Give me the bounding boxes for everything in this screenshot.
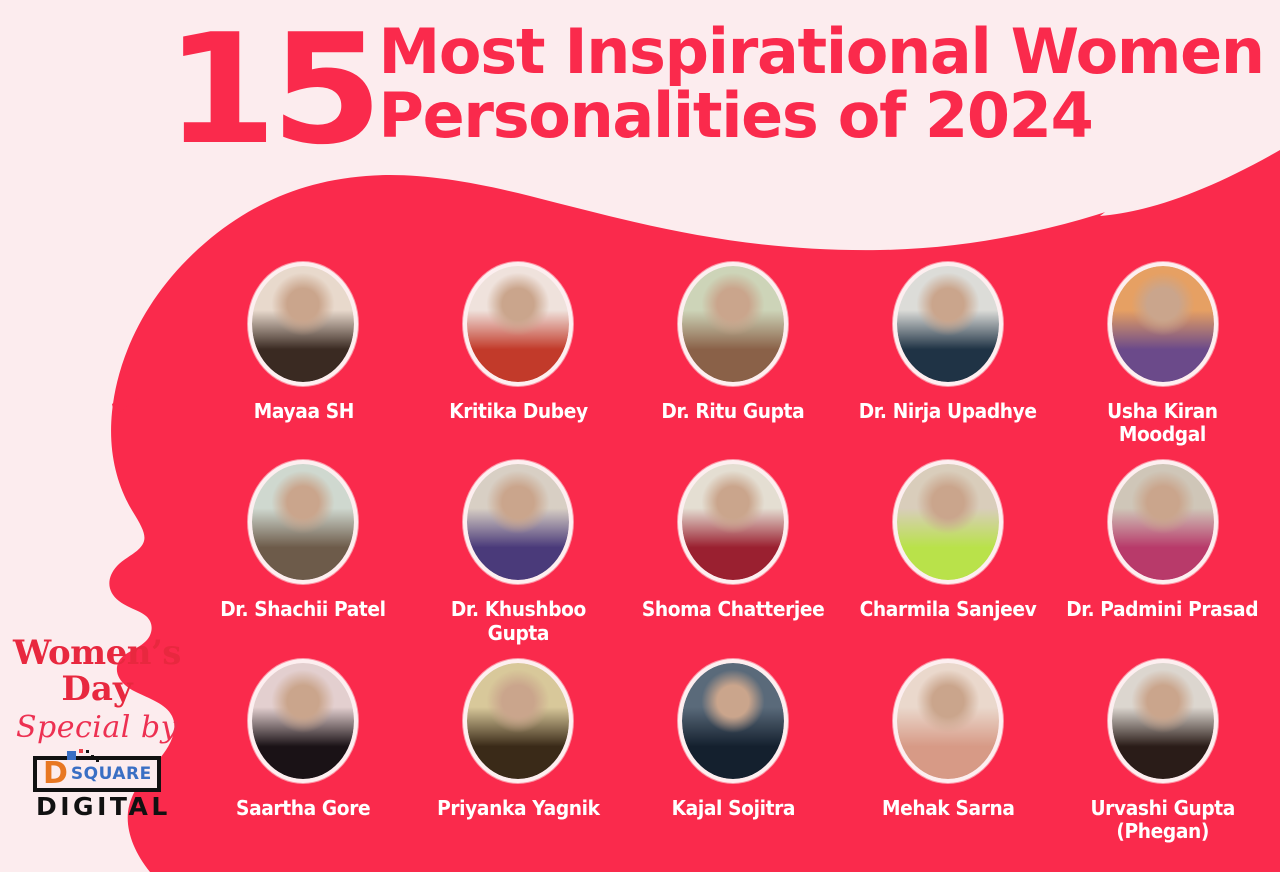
avatar-photo (897, 464, 999, 580)
avatar (1108, 659, 1218, 783)
person-name: Kritika Dubey (449, 400, 588, 423)
person-name: Dr. Shachii Patel (221, 598, 386, 621)
avatar-photo (252, 266, 354, 382)
person-name: Saartha Gore (236, 797, 370, 820)
pixel-dots-icon (67, 749, 107, 765)
person-card[interactable]: Dr. Ritu Gupta (626, 262, 841, 423)
avatar-photo (467, 663, 569, 779)
person-name: Dr. Padmini Prasad (1067, 598, 1259, 621)
brand-block: Women’s Day Special by D SQUARE DIGITAL (8, 636, 186, 820)
avatar (893, 262, 1003, 386)
avatar-photo (682, 663, 784, 779)
person-name: Shoma Chatterjee (642, 598, 824, 621)
person-name: Dr. Ritu Gupta (662, 400, 805, 423)
person-card[interactable]: Kajal Sojitra (626, 659, 841, 820)
avatar (893, 460, 1003, 584)
person-card[interactable]: Charmila Sanjeev (840, 460, 1055, 621)
avatar-photo (897, 266, 999, 382)
people-row-3: Saartha Gore Priyanka Yagnik Kajal Sojit… (196, 659, 1270, 843)
avatar-photo (1112, 663, 1214, 779)
avatar (678, 460, 788, 584)
logo-box: D SQUARE (33, 756, 161, 792)
person-name: Kajal Sojitra (671, 797, 794, 820)
person-card[interactable]: Kritika Dubey (411, 262, 626, 423)
person-name: Dr. Khushboo Gupta (418, 598, 618, 644)
person-name: Urvashi Gupta (Phegan) (1090, 797, 1235, 843)
avatar (893, 659, 1003, 783)
poster-canvas: 15 Most Inspirational Women Personalitie… (0, 0, 1280, 872)
logo-letter-d: D (37, 760, 71, 788)
avatar (463, 659, 573, 783)
person-card[interactable]: Dr. Padmini Prasad (1055, 460, 1270, 621)
person-card[interactable]: Mayaa SH (196, 262, 411, 423)
brand-special-by-text: Special by (8, 710, 186, 746)
title-line-1: Most Inspirational Women (379, 20, 1264, 84)
person-card[interactable]: Priyanka Yagnik (411, 659, 626, 820)
person-card[interactable]: Dr. Khushboo Gupta (411, 460, 626, 644)
avatar-photo (252, 663, 354, 779)
title-line-2: Personalities of 2024 (379, 84, 1264, 148)
avatar-photo (467, 266, 569, 382)
avatar-photo (1112, 464, 1214, 580)
logo-digital-text: DIGITAL (33, 794, 161, 820)
person-name: Mehak Sarna (881, 797, 1014, 820)
person-card[interactable]: Mehak Sarna (840, 659, 1055, 820)
people-row-1: Mayaa SH Kritika Dubey Dr. Ritu Gupta Dr… (196, 262, 1270, 446)
person-card[interactable]: Dr. Nirja Upadhye (840, 262, 1055, 423)
person-card[interactable]: Urvashi Gupta (Phegan) (1055, 659, 1270, 843)
title-lines: Most Inspirational Women Personalities o… (379, 12, 1264, 149)
title-number: 15 (165, 20, 377, 160)
person-name: Usha Kiran Moodgal (1063, 400, 1263, 446)
avatar-photo (1112, 266, 1214, 382)
person-card[interactable]: Dr. Shachii Patel (196, 460, 411, 621)
person-card[interactable]: Shoma Chatterjee (626, 460, 841, 621)
avatar (678, 262, 788, 386)
person-name: Dr. Nirja Upadhye (859, 400, 1037, 423)
avatar (463, 262, 573, 386)
avatar (678, 659, 788, 783)
avatar (1108, 460, 1218, 584)
brand-womens-text: Women’s (8, 636, 186, 671)
avatar (1108, 262, 1218, 386)
avatar (248, 659, 358, 783)
avatar-photo (467, 464, 569, 580)
avatar (463, 460, 573, 584)
avatar (248, 460, 358, 584)
avatar-photo (682, 266, 784, 382)
brand-day-text: Day (8, 671, 186, 708)
people-grid: Mayaa SH Kritika Dubey Dr. Ritu Gupta Dr… (196, 262, 1270, 857)
avatar (248, 262, 358, 386)
person-name: Mayaa SH (253, 400, 353, 423)
avatar-photo (252, 464, 354, 580)
dsquare-digital-logo[interactable]: D SQUARE DIGITAL (33, 756, 161, 820)
person-card[interactable]: Usha Kiran Moodgal (1055, 262, 1270, 446)
avatar-photo (897, 663, 999, 779)
person-card[interactable]: Saartha Gore (196, 659, 411, 820)
people-row-2: Dr. Shachii Patel Dr. Khushboo Gupta Sho… (196, 460, 1270, 644)
person-name: Priyanka Yagnik (437, 797, 600, 820)
person-name: Charmila Sanjeev (859, 598, 1036, 621)
poster-title: 15 Most Inspirational Women Personalitie… (165, 12, 1270, 160)
avatar-photo (682, 464, 784, 580)
